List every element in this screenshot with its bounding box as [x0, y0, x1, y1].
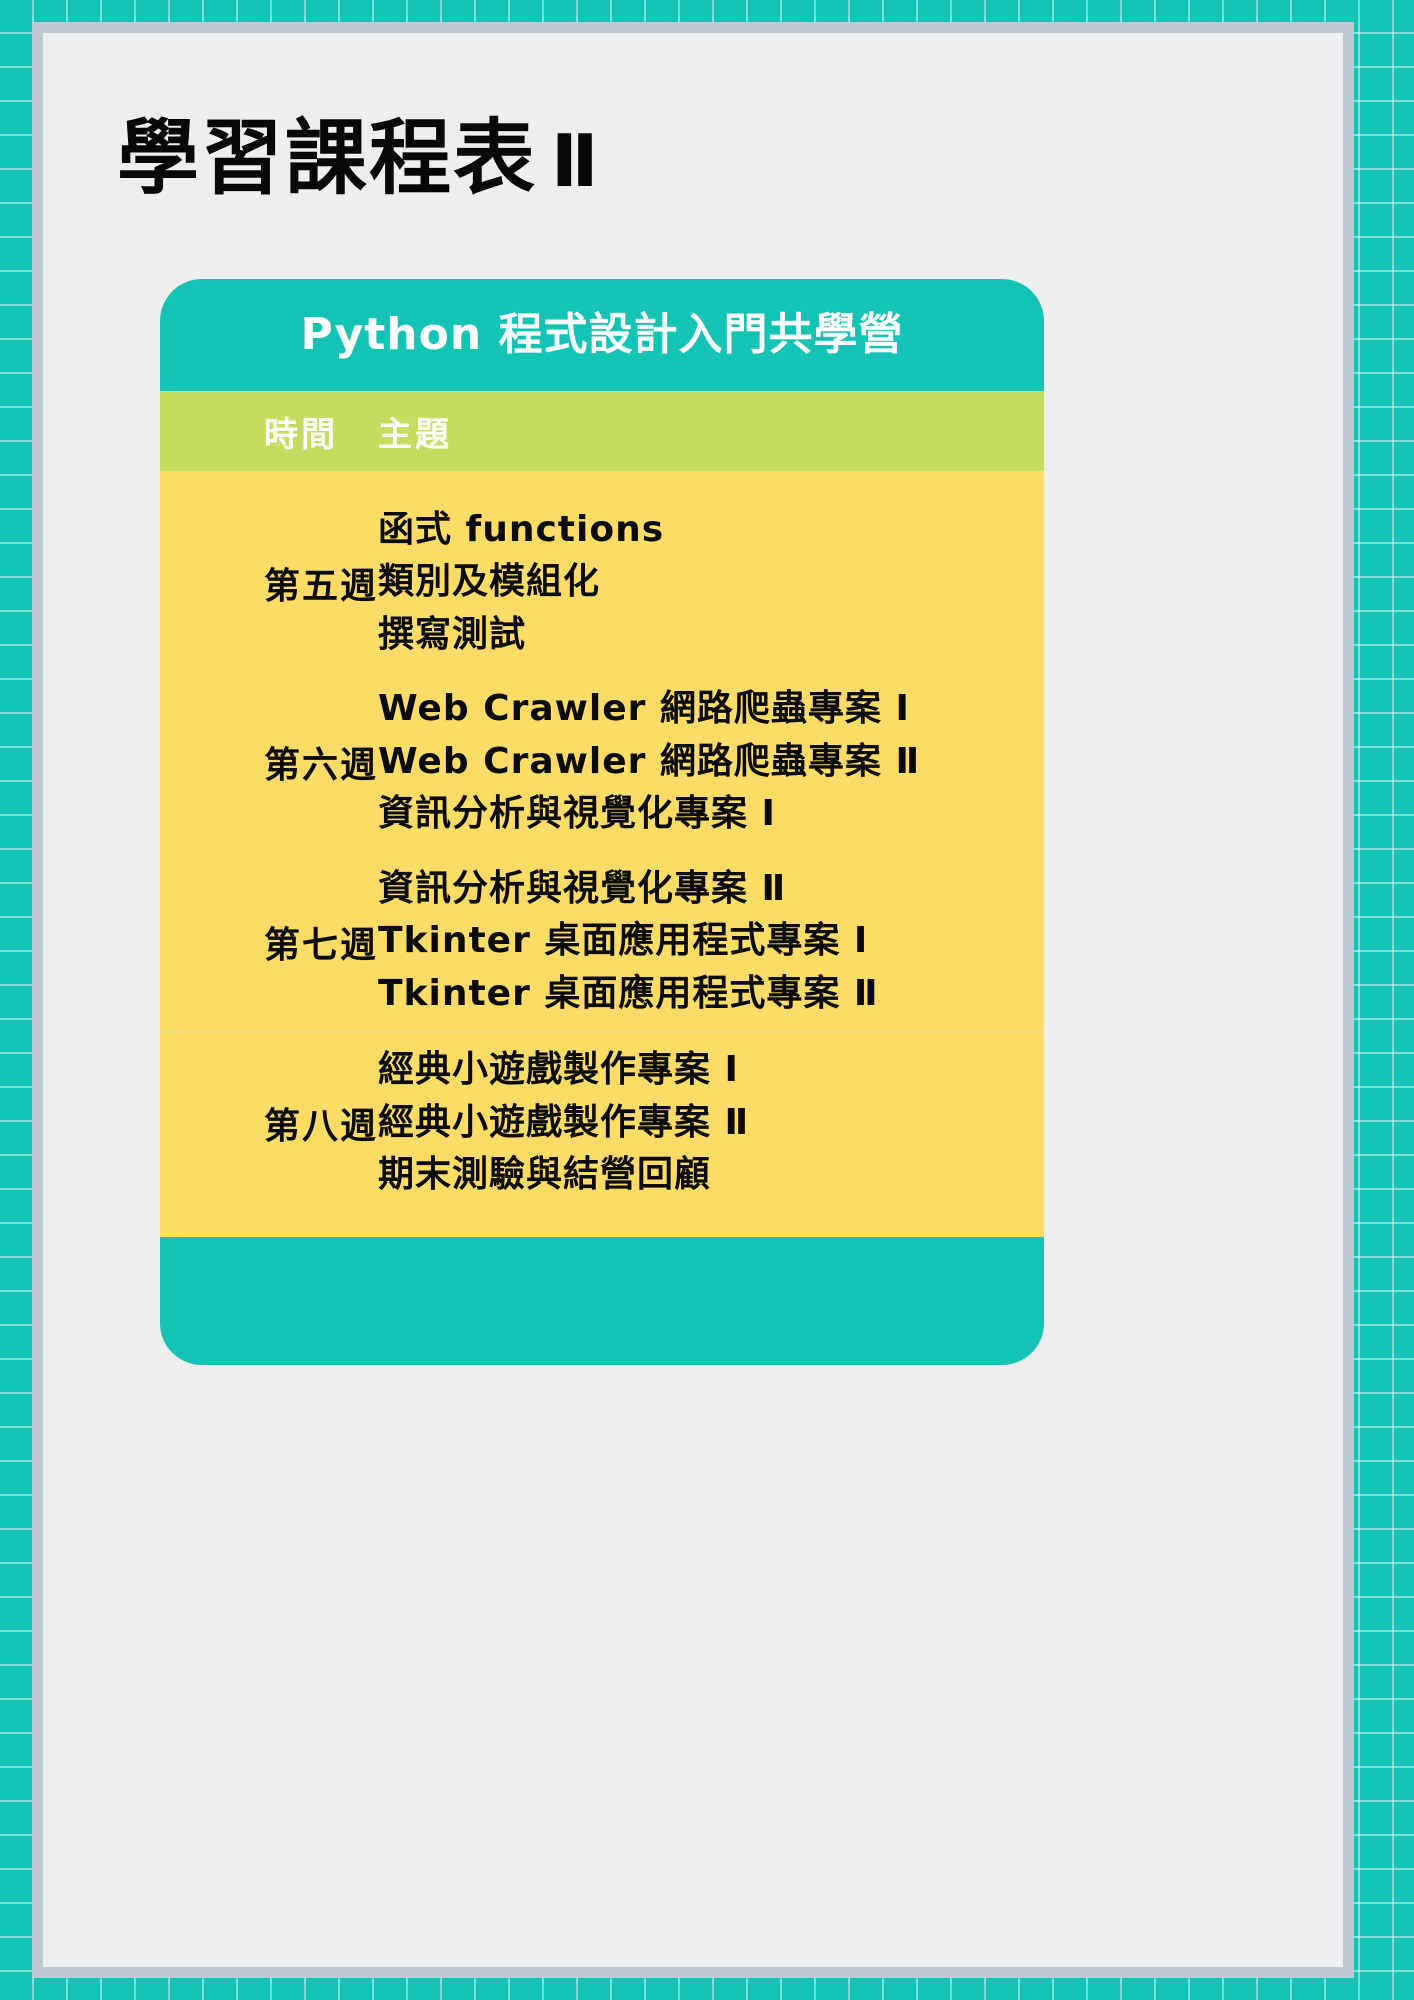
row-topic-item: Web Crawler 網路爬蟲專案 Ⅰ: [378, 688, 1044, 730]
table-row: 第八週經典小遊戲製作專案 Ⅰ經典小遊戲製作專案 Ⅱ期末測驗與結營回顧: [160, 1031, 1044, 1212]
row-topic-item: Tkinter 桌面應用程式專案 Ⅱ: [378, 973, 1044, 1015]
column-header-topic: 主題: [378, 407, 452, 456]
page-title: 學習課程表Ⅱ: [117, 113, 598, 205]
schedule-card: Python 程式設計入門共學營 時間 主題 第五週函式 functions類別…: [160, 279, 1044, 1365]
row-topic-item: 資訊分析與視覺化專案 Ⅰ: [378, 793, 1044, 835]
card-header: Python 程式設計入門共學營: [160, 279, 1044, 391]
row-week-label: 第六週: [160, 736, 378, 788]
row-topic-list: 經典小遊戲製作專案 Ⅰ經典小遊戲製作專案 Ⅱ期末測驗與結營回顧: [378, 1049, 1044, 1196]
table-row: 第五週函式 functions類別及模組化撰寫測試: [160, 493, 1044, 672]
table-body: 第五週函式 functions類別及模組化撰寫測試第六週Web Crawler …: [160, 471, 1044, 1237]
row-week-label: 第八週: [160, 1097, 378, 1149]
row-topic-item: 類別及模組化: [378, 561, 1044, 603]
row-topic-item: 函式 functions: [378, 509, 1044, 551]
row-topic-item: 經典小遊戲製作專案 Ⅱ: [378, 1102, 1044, 1144]
row-week-label: 第五週: [160, 557, 378, 609]
row-topic-list: Web Crawler 網路爬蟲專案 ⅠWeb Crawler 網路爬蟲專案 Ⅱ…: [378, 688, 1044, 835]
row-topic-item: Tkinter 桌面應用程式專案 Ⅰ: [378, 920, 1044, 962]
row-week-label: 第七週: [160, 916, 378, 968]
row-topic-item: 撰寫測試: [378, 614, 1044, 656]
table-row: 第七週資訊分析與視覺化專案 ⅡTkinter 桌面應用程式專案 ⅠTkinter…: [160, 852, 1044, 1031]
poster-page: 學習課程表Ⅱ Python 程式設計入門共學營 時間 主題 第五週函式 func…: [0, 0, 1414, 2000]
card-footer: [160, 1237, 1044, 1365]
row-topic-list: 函式 functions類別及模組化撰寫測試: [378, 509, 1044, 656]
table-column-header-row: 時間 主題: [160, 391, 1044, 471]
page-title-text: 學習課程表: [117, 111, 537, 206]
page-title-roman-numeral: Ⅱ: [537, 119, 598, 203]
row-topic-item: 資訊分析與視覺化專案 Ⅱ: [378, 868, 1044, 910]
table-row: 第六週Web Crawler 網路爬蟲專案 ⅠWeb Crawler 網路爬蟲專…: [160, 672, 1044, 851]
row-topic-list: 資訊分析與視覺化專案 ⅡTkinter 桌面應用程式專案 ⅠTkinter 桌面…: [378, 868, 1044, 1015]
column-header-time: 時間: [160, 407, 378, 456]
paper-sheet: 學習課程表Ⅱ Python 程式設計入門共學營 時間 主題 第五週函式 func…: [32, 22, 1354, 1978]
row-topic-item: Web Crawler 網路爬蟲專案 Ⅱ: [378, 741, 1044, 783]
course-title: Python 程式設計入門共學營: [301, 313, 904, 357]
row-topic-item: 期末測驗與結營回顧: [378, 1154, 1044, 1196]
row-topic-item: 經典小遊戲製作專案 Ⅰ: [378, 1049, 1044, 1091]
